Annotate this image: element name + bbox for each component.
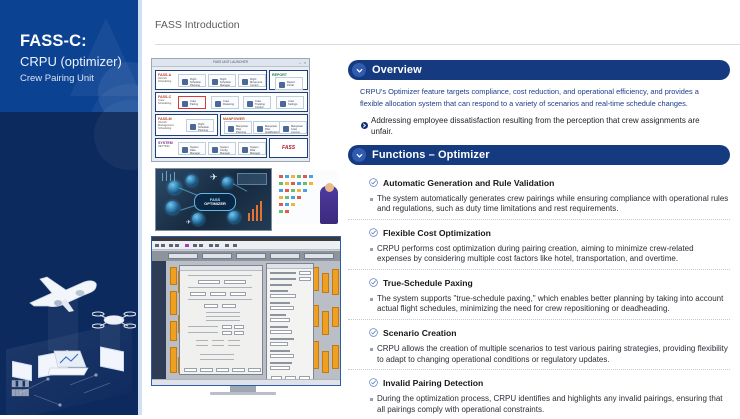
fass-logo: FASS bbox=[269, 138, 308, 158]
overview-paragraph: CRPU's Optimizer feature targets complia… bbox=[360, 86, 722, 109]
chart-bar bbox=[252, 209, 254, 221]
launcher-group-fass-a: FASS-A AircraftScheduling FlightSchedule… bbox=[155, 70, 267, 90]
launcher-group-report: REPORT ReportPortal bbox=[269, 70, 308, 90]
launcher-tile[interactable]: ReportPortal bbox=[275, 77, 303, 90]
function-heading: Automatic Generation and Rule Validation bbox=[369, 174, 730, 192]
tile-label: ManpowerCrewLicence bbox=[291, 125, 303, 135]
group-label: FASS-M bbox=[158, 117, 172, 121]
aviation-data-platform-illustration: ▮▯▮▯▮▮▮▮▮▮ bbox=[0, 245, 138, 415]
launcher-tile[interactable]: SystemDataManager bbox=[178, 142, 206, 155]
chevron-down-circle-icon bbox=[352, 148, 366, 162]
manpower-licence-icon bbox=[283, 126, 289, 132]
core-label-bottom: OPTIMIZER bbox=[204, 202, 226, 207]
content-column: Overview CRPU's Optimizer feature target… bbox=[348, 60, 730, 419]
function-title: True-Schedule Paxing bbox=[383, 278, 473, 288]
bar-tick bbox=[170, 174, 171, 181]
section-title-overview: Overview bbox=[372, 64, 422, 76]
section-header-functions[interactable]: Functions – Optimizer bbox=[348, 145, 730, 165]
optimizer-parameters-panel[interactable] bbox=[266, 263, 314, 385]
launcher-tile-crew-pairing[interactable]: CrewPairing bbox=[178, 96, 206, 109]
panel-titlebar bbox=[267, 264, 313, 269]
launcher-body: FASS-A AircraftScheduling FlightSchedule… bbox=[155, 70, 306, 158]
page-subtitle: CRPU (optimizer) bbox=[20, 54, 122, 69]
overview-bullet-text: Addressing employee dissatisfaction resu… bbox=[371, 115, 722, 137]
check-circle-icon bbox=[369, 274, 378, 292]
system-data-icon bbox=[182, 147, 188, 153]
section-title-functions: Functions – Optimizer bbox=[372, 149, 490, 161]
chart-bar bbox=[248, 213, 250, 221]
crew-rostering-icon bbox=[215, 101, 221, 107]
network-node-icon bbox=[228, 211, 240, 223]
fass-launcher-screenshot: FASS UNIT LAUNCHER – × FASS-A AircraftSc… bbox=[151, 58, 310, 162]
launcher-tile[interactable]: ManpowerCrewLicence bbox=[279, 121, 307, 134]
function-title: Invalid Pairing Detection bbox=[383, 378, 483, 388]
launcher-tile[interactable]: FlightMovementControl bbox=[238, 74, 266, 87]
launcher-tile[interactable]: FlightSchedulePlanning bbox=[186, 119, 214, 132]
check-circle-icon bbox=[369, 174, 378, 192]
person-head-icon bbox=[325, 183, 334, 192]
network-node-icon bbox=[192, 213, 204, 225]
launcher-group-fass-m: FASS-M AircraftManagementScheduling Flig… bbox=[155, 114, 218, 136]
list-item: Flexible Cost Optimization CRPU performs… bbox=[348, 219, 730, 269]
launcher-tile[interactable]: SystemRoleManager bbox=[238, 142, 266, 155]
group-label: SYSTEM bbox=[158, 141, 173, 145]
tile-label: FlightSchedulePlanning bbox=[198, 123, 209, 133]
tile-label: SystemConfigManager bbox=[220, 146, 230, 156]
function-description-text: The system supports "true-schedule paxin… bbox=[377, 294, 730, 316]
tile-label: CrewRostering bbox=[223, 100, 234, 106]
tile-label: CrewSettings bbox=[288, 100, 297, 106]
launcher-group-system: SYSTEM SETTING SystemDataManager SystemC… bbox=[155, 138, 267, 158]
sidebar-accent-strip bbox=[138, 0, 142, 415]
network-node-icon bbox=[166, 201, 179, 214]
pairing-generation-dialog[interactable] bbox=[179, 265, 263, 375]
page-header: FASS Introduction bbox=[142, 0, 740, 46]
function-heading: True-Schedule Paxing bbox=[369, 274, 730, 292]
network-node-icon bbox=[186, 175, 197, 186]
group-sublabel: AircraftManagementScheduling bbox=[158, 121, 174, 130]
person-illustration bbox=[320, 186, 338, 224]
check-circle-icon bbox=[369, 374, 378, 392]
group-label: FASS-C bbox=[158, 95, 171, 99]
network-node-icon bbox=[222, 177, 233, 188]
tile-label: ManpowerPlanQualification bbox=[265, 125, 279, 135]
tile-label: ReportPortal bbox=[287, 81, 295, 87]
header-title: FASS Introduction bbox=[155, 19, 240, 31]
maintenance-schedule-icon bbox=[190, 124, 196, 130]
gantt-header-row bbox=[152, 251, 340, 261]
title-sidebar: FASS-C: CRPU (optimizer) Crew Pairing Un… bbox=[0, 0, 138, 415]
report-icon bbox=[279, 82, 285, 88]
group-label: FASS-A bbox=[158, 73, 171, 77]
tile-label: SystemDataManager bbox=[190, 146, 200, 156]
system-config-icon bbox=[212, 147, 218, 153]
launcher-tile[interactable]: ManpowerPlanQualification bbox=[253, 121, 281, 134]
tile-label: ManpowerPlanPlanning bbox=[236, 125, 248, 135]
function-description: During the optimization process, CRPU id… bbox=[370, 394, 730, 416]
group-sublabel: SETTING bbox=[158, 145, 170, 148]
manpower-qualification-icon bbox=[257, 126, 263, 132]
square-bullet-icon bbox=[370, 398, 373, 401]
airplane-glyph-icon: ✈ bbox=[210, 173, 218, 182]
function-heading: Flexible Cost Optimization bbox=[369, 224, 730, 242]
page-title: FASS-C: bbox=[20, 32, 87, 51]
monitor-base bbox=[210, 392, 276, 395]
page-caption: Crew Pairing Unit bbox=[20, 73, 94, 84]
function-description: The system automatically generates crew … bbox=[370, 194, 730, 216]
group-sublabel: AircraftScheduling bbox=[158, 77, 171, 83]
launcher-tile[interactable]: FlightScheduleManager bbox=[208, 74, 236, 87]
crew-tracking-icon bbox=[247, 101, 253, 107]
function-heading: Scenario Creation bbox=[369, 324, 730, 342]
crew-settings-icon bbox=[280, 101, 286, 107]
tile-label: FlightSchedulePlanning bbox=[190, 78, 201, 88]
launcher-titlebar: FASS UNIT LAUNCHER – × bbox=[152, 59, 309, 67]
function-description: The system supports "true-schedule paxin… bbox=[370, 294, 730, 316]
chevron-down-circle-icon bbox=[352, 63, 366, 77]
tile-label: CrewTrackingControl bbox=[255, 100, 265, 110]
bar-tick bbox=[174, 172, 175, 181]
function-description: CRPU performs cost optimization during p… bbox=[370, 244, 730, 266]
flight-manager-icon bbox=[212, 79, 218, 85]
launcher-tile[interactable]: CrewTrackingControl bbox=[243, 96, 271, 109]
function-title: Flexible Cost Optimization bbox=[383, 228, 491, 238]
check-circle-icon bbox=[369, 224, 378, 242]
flight-schedule-icon bbox=[182, 79, 188, 85]
fass-logo-text: FASS bbox=[282, 145, 295, 151]
chart-bar bbox=[256, 205, 258, 221]
bar-tick bbox=[162, 173, 163, 181]
group-sublabel: CrewScheduling bbox=[158, 99, 171, 105]
function-description-text: CRPU allows the creation of multiple sce… bbox=[377, 344, 730, 366]
tile-label: FlightMovementControl bbox=[250, 78, 262, 88]
tile-label: CrewPairing bbox=[190, 100, 198, 106]
square-bullet-icon bbox=[370, 298, 373, 301]
sidebar-title-block: FASS-C: CRPU (optimizer) Crew Pairing Un… bbox=[0, 0, 138, 112]
window-controls-icon: – × bbox=[299, 61, 307, 65]
overview-bullet: Addressing employee dissatisfaction resu… bbox=[361, 115, 722, 137]
fass-optimizer-concept-graphic: FASS OPTIMIZER ✈ ✈ bbox=[155, 168, 272, 231]
gantt-row-labels bbox=[152, 261, 166, 379]
manpower-planning-icon bbox=[228, 126, 234, 132]
check-circle-icon bbox=[369, 324, 378, 342]
launcher-tile[interactable]: ManpowerPlanPlanning bbox=[224, 121, 252, 134]
flight-movement-icon bbox=[242, 79, 248, 85]
launcher-group-manpower: MANPOWER ManpowerPlanPlanning ManpowerPl… bbox=[220, 114, 308, 136]
network-link bbox=[179, 187, 198, 195]
crew-pairing-icon bbox=[182, 101, 188, 107]
function-description-text: During the optimization process, CRPU id… bbox=[377, 394, 730, 416]
tile-label: SystemRoleManager bbox=[250, 146, 260, 156]
group-label: MANPOWER bbox=[223, 117, 245, 121]
crpu-optimizer-gantt-screenshot bbox=[151, 236, 341, 386]
function-description-text: The system automatically generates crew … bbox=[377, 194, 730, 216]
dialog-titlebar bbox=[180, 266, 262, 271]
optimizer-core-badge: FASS OPTIMIZER bbox=[194, 193, 236, 211]
hud-panel bbox=[237, 173, 267, 185]
launcher-window-title: FASS UNIT LAUNCHER bbox=[213, 60, 248, 64]
list-item: Scenario Creation CRPU allows the creati… bbox=[348, 319, 730, 369]
crew-pairing-board-photo bbox=[276, 170, 338, 224]
function-title: Automatic Generation and Rule Validation bbox=[383, 178, 554, 188]
square-bullet-icon bbox=[370, 348, 373, 351]
gantt-toolbar bbox=[152, 241, 340, 250]
function-description: CRPU allows the creation of multiple sce… bbox=[370, 344, 730, 366]
connection-lines bbox=[0, 245, 138, 415]
arrow-right-circle-icon bbox=[361, 116, 368, 134]
square-bullet-icon bbox=[370, 248, 373, 251]
launcher-tile[interactable]: CrewSettings bbox=[276, 96, 304, 109]
tile-label: FlightScheduleManager bbox=[220, 78, 231, 88]
launcher-group-fass-c: FASS-C CrewScheduling CrewPairing CrewRo… bbox=[155, 92, 308, 112]
chart-bar bbox=[260, 201, 262, 221]
list-item: Automatic Generation and Rule Validation… bbox=[348, 170, 730, 219]
function-title: Scenario Creation bbox=[383, 328, 457, 338]
media-column: FASS UNIT LAUNCHER – × FASS-A AircraftSc… bbox=[148, 58, 344, 408]
square-bullet-icon bbox=[370, 198, 373, 201]
list-item: True-Schedule Paxing The system supports… bbox=[348, 269, 730, 319]
functions-list: Automatic Generation and Rule Validation… bbox=[348, 170, 730, 419]
airplane-glyph-icon: ✈ bbox=[186, 219, 191, 228]
function-description-text: CRPU performs cost optimization during p… bbox=[377, 244, 730, 266]
header-divider bbox=[155, 44, 740, 45]
function-heading: Invalid Pairing Detection bbox=[369, 374, 730, 392]
gantt-horizontal-scrollbar[interactable] bbox=[152, 379, 340, 385]
list-item: Invalid Pairing Detection During the opt… bbox=[348, 369, 730, 419]
launcher-tile[interactable]: CrewRostering bbox=[211, 96, 239, 109]
group-label: REPORT bbox=[272, 73, 287, 77]
section-header-overview[interactable]: Overview bbox=[348, 60, 730, 80]
launcher-tile[interactable]: SystemConfigManager bbox=[208, 142, 236, 155]
bar-tick bbox=[166, 171, 167, 181]
overview-body: CRPU's Optimizer feature targets complia… bbox=[348, 80, 730, 137]
system-role-icon bbox=[242, 147, 248, 153]
launcher-tile[interactable]: FlightSchedulePlanning bbox=[178, 74, 206, 87]
